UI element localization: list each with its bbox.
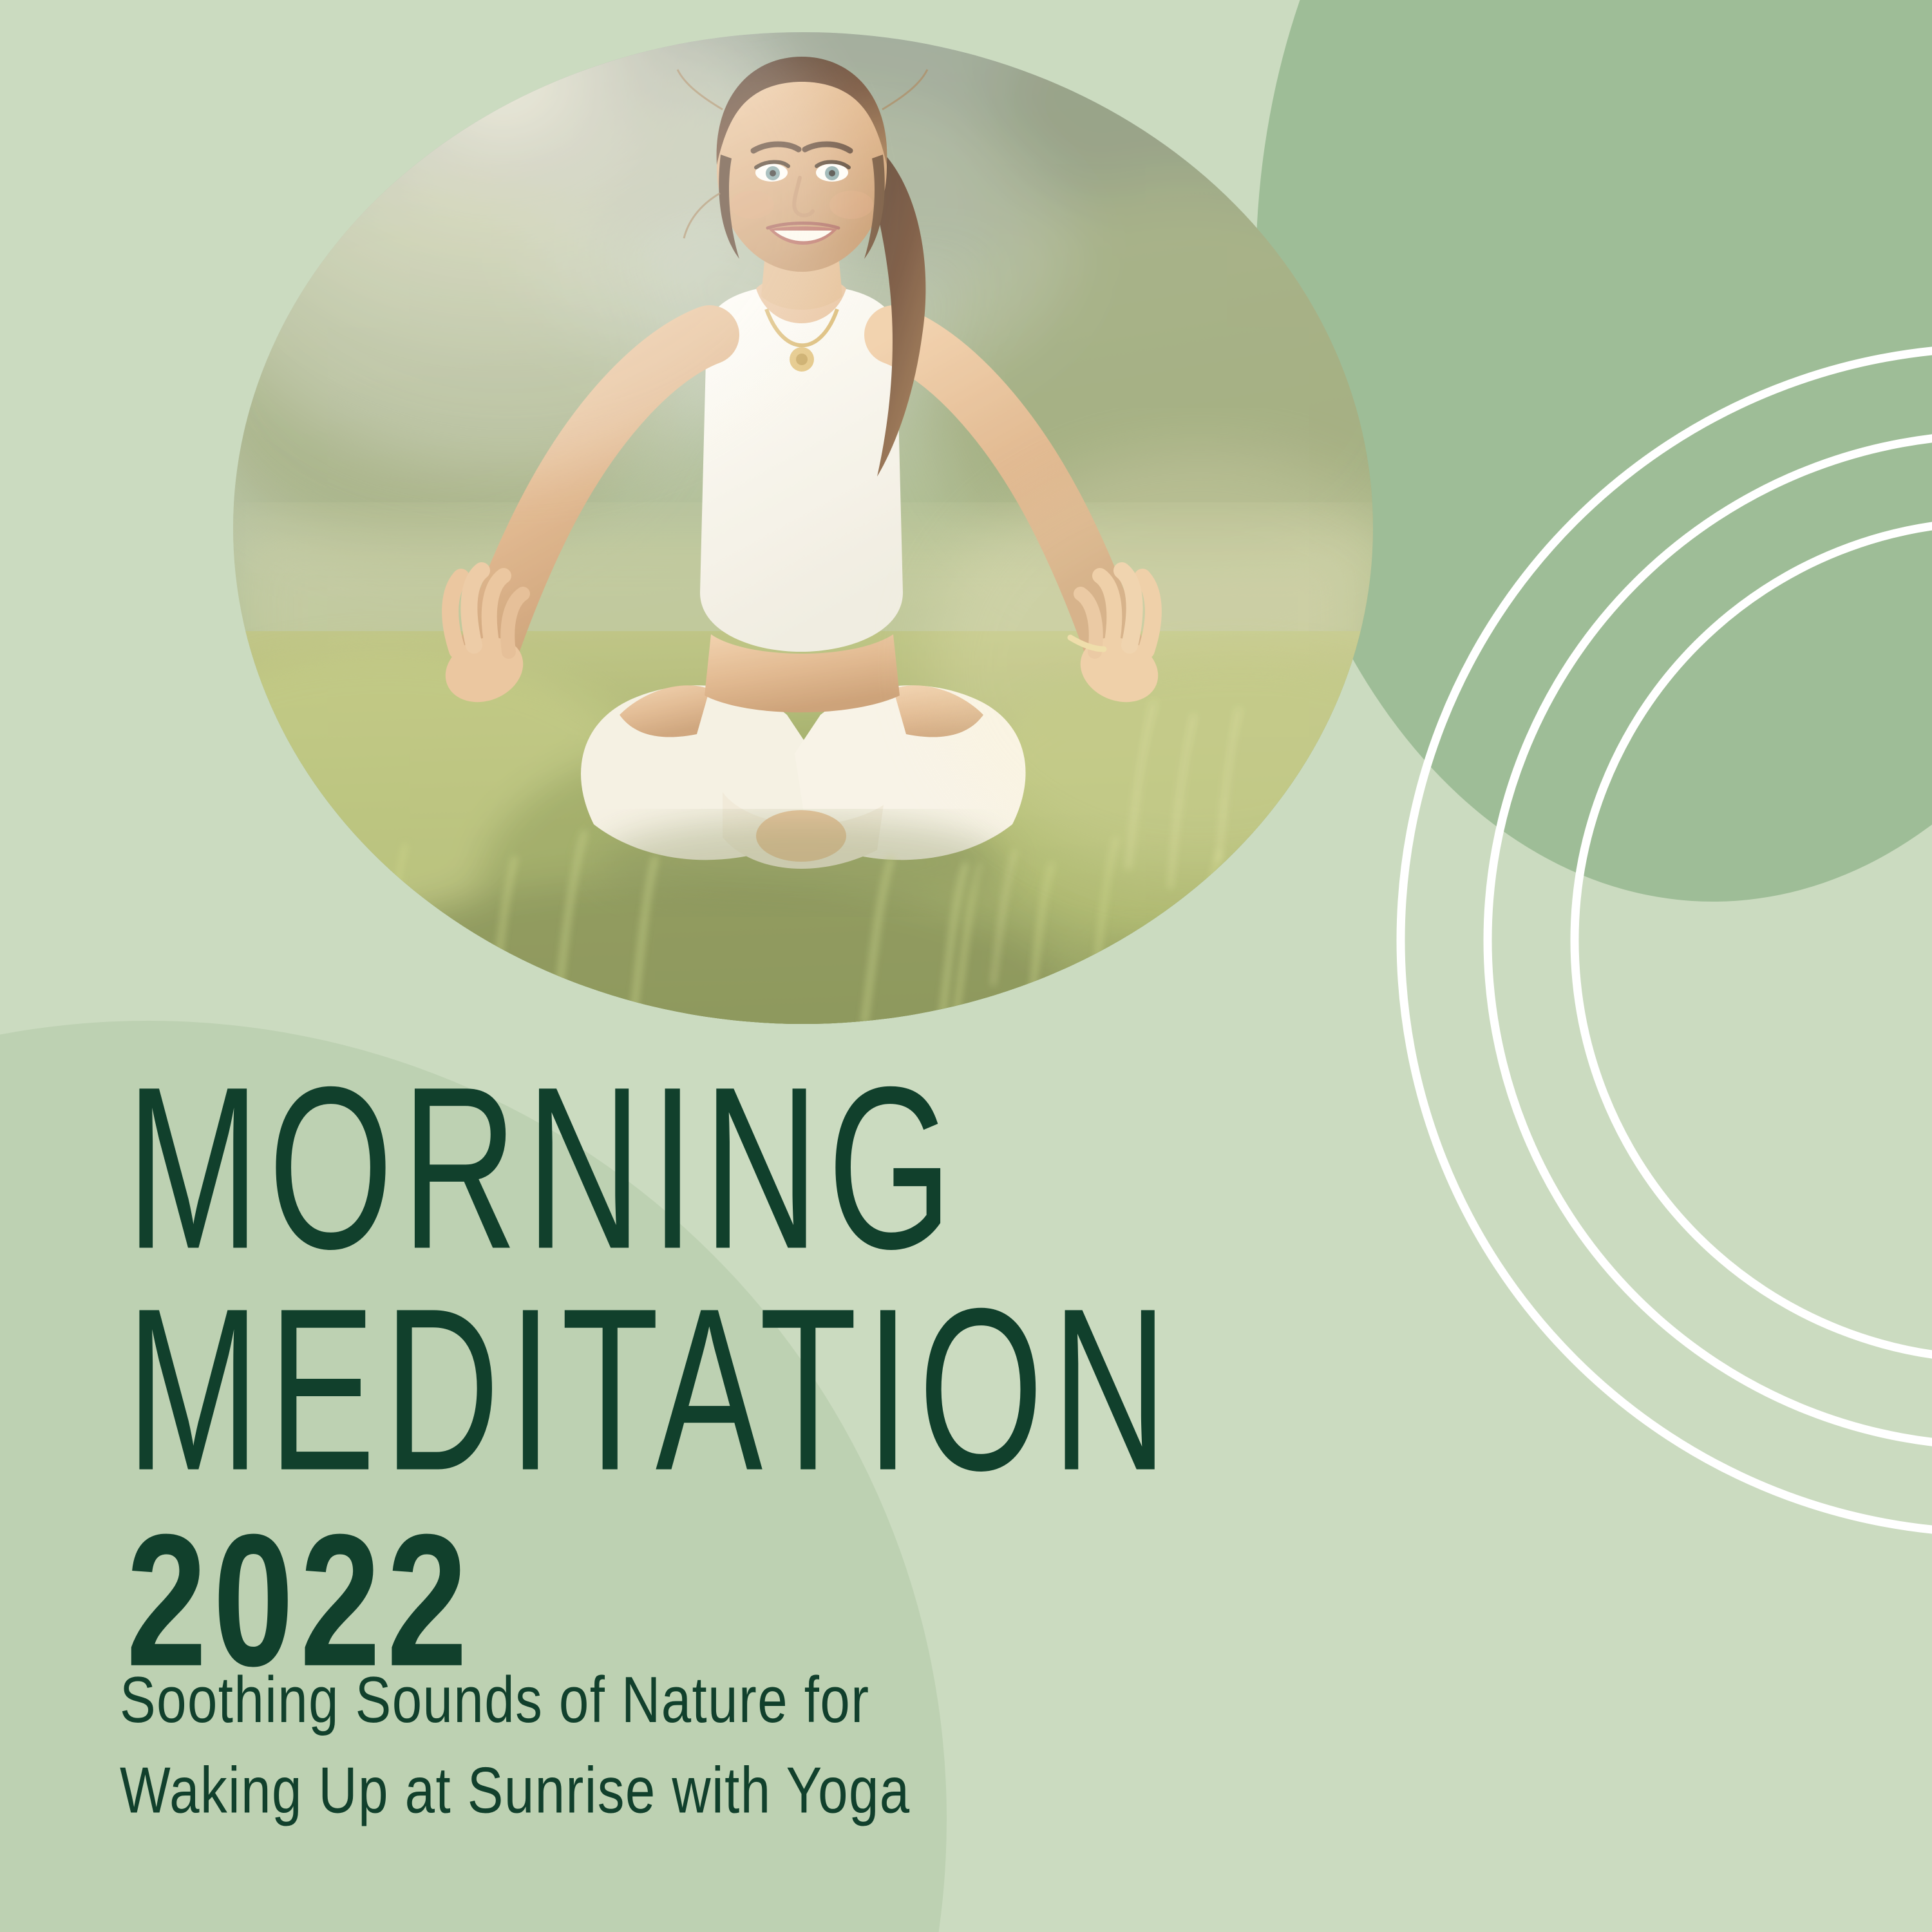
subtitle-line-2: Waking Up at Sunrise with Yoga (120, 1745, 1494, 1835)
title-line-meditation: MEDITATION (126, 1278, 1564, 1502)
album-cover-poster: MORNING MEDITATION 2022 Soothing Sounds … (0, 0, 1932, 1932)
title-line-morning: MORNING (126, 1056, 1564, 1280)
subtitle-line-1: Soothing Sounds of Nature for (120, 1655, 1494, 1745)
hero-photo-circle (233, 32, 1373, 1024)
title-block: MORNING MEDITATION 2022 (126, 1056, 1672, 1656)
subtitle-block: Soothing Sounds of Nature for Waking Up … (120, 1655, 1494, 1835)
meditation-photo (233, 32, 1373, 1024)
